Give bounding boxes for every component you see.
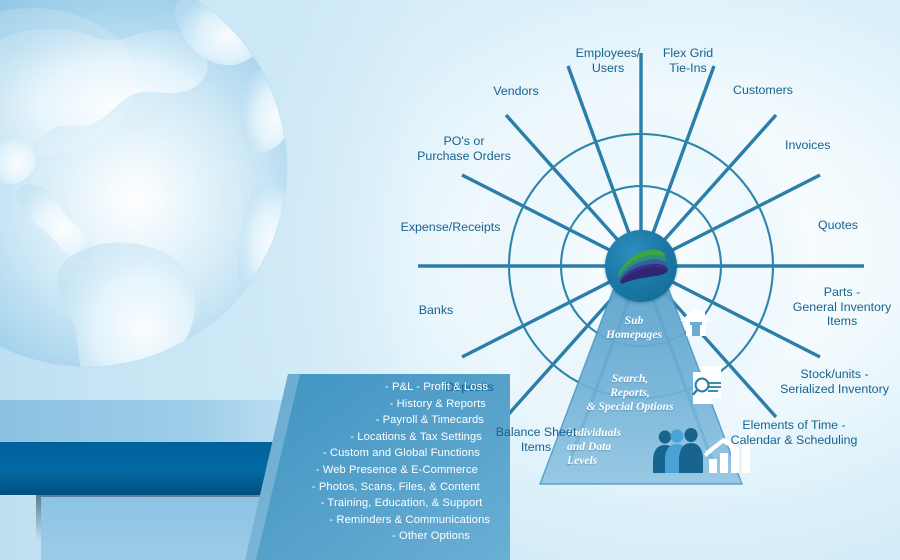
feature-list-ribbon: - P&L - Profit & Loss- History & Reports… [245, 374, 510, 560]
feature-list-item: - P&L - Profit & Loss [245, 379, 510, 396]
label-expense-receipts: Expense/Receipts [388, 220, 513, 235]
label-parts-general-inventory: Parts - General Inventory Items [783, 285, 900, 329]
label-vendors: Vendors [481, 84, 551, 99]
label-quotes: Quotes [818, 218, 888, 233]
house-icon [679, 307, 713, 337]
label-customers: Customers [718, 83, 808, 98]
label-banks: Banks [401, 303, 471, 318]
feature-list-item: - Locations & Tax Settings [245, 429, 510, 446]
label-invoices: Invoices [785, 138, 865, 153]
feature-list-item: - History & Reports [245, 396, 510, 413]
feature-list-item: - Payroll & Timecards [245, 412, 510, 429]
label-employees-users: Employees/ Users [563, 46, 653, 75]
feature-list-item: - Training, Education, & Support [245, 495, 510, 512]
label-pos-purchase-orders: PO's or Purchase Orders [409, 134, 519, 163]
beam-label-sub-homepages: Sub Homepages [591, 314, 677, 342]
beam-label-search-reports: Search, Reports, & Special Options [571, 372, 689, 415]
feature-list-item: - Custom and Global Functions [245, 445, 510, 462]
label-flex-grid-tie-ins: Flex Grid Tie-Ins [648, 46, 728, 75]
document-search-icon [691, 365, 727, 405]
feature-list: - P&L - Profit & Loss- History & Reports… [245, 374, 510, 560]
label-elements-of-time: Elements of Time - Calendar & Scheduling [714, 418, 874, 447]
label-stock-units-serialized: Stock/units - Serialized Inventory [767, 367, 900, 396]
feature-list-item: - Other Options [245, 528, 510, 545]
feature-list-item: - Web Presence & E-Commerce [245, 462, 510, 479]
feature-list-item: - Reminders & Communications [245, 512, 510, 529]
feature-list-item: - Photos, Scans, Files, & Content [245, 479, 510, 496]
diagram-canvas: Sub Homepages Search, Reports, & Special… [0, 0, 900, 560]
